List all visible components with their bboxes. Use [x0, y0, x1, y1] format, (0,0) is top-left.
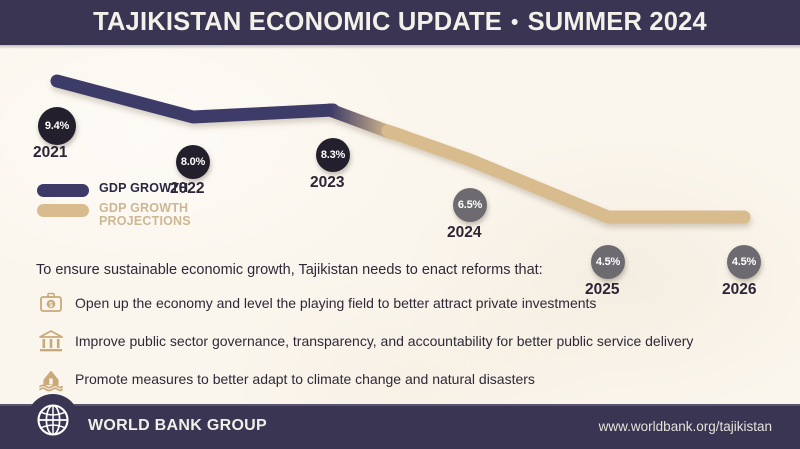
list-item: $ Open up the economy and level the play… — [36, 288, 776, 318]
year-label-2023: 2023 — [310, 174, 344, 192]
legend-swatch-gdp-growth-projections — [37, 204, 89, 217]
briefcase-dollar-icon: $ — [36, 288, 66, 318]
legend-label-line-2: PROJECTIONS — [99, 215, 191, 228]
recommendations-section: To ensure sustainable economic growth, T… — [36, 262, 776, 402]
list-item: Promote measures to better adapt to clim… — [36, 364, 776, 394]
title-left-text: TAJIKISTAN ECONOMIC UPDATE — [93, 8, 502, 36]
house-flood-icon — [36, 364, 66, 394]
list-item: Improve public sector governance, transp… — [36, 326, 776, 356]
bank-building-icon — [36, 326, 66, 356]
list-item-text: Open up the economy and level the playin… — [75, 295, 596, 311]
page-title: TAJIKISTAN ECONOMIC UPDATE•SUMMER 2024 — [93, 8, 707, 37]
year-label-2021: 2021 — [33, 144, 67, 162]
data-point-2022: 8.0% — [176, 145, 210, 179]
data-point-2021: 9.4% — [38, 107, 76, 145]
world-bank-globe-icon — [27, 394, 79, 446]
footer-bar: WORLD BANK GROUP www.worldbank.org/tajik… — [0, 404, 800, 449]
footer-divider — [0, 404, 800, 406]
data-point-2023: 8.3% — [316, 138, 350, 172]
footer-url[interactable]: www.worldbank.org/tajikistan — [599, 419, 772, 434]
svg-text:$: $ — [49, 302, 53, 309]
year-label-2024: 2024 — [447, 224, 481, 242]
title-separator-dot: • — [502, 11, 528, 35]
data-point-2024: 6.5% — [453, 188, 487, 222]
header-shadow — [0, 45, 800, 49]
header-bar: TAJIKISTAN ECONOMIC UPDATE•SUMMER 2024 — [0, 0, 800, 45]
list-item-text: Improve public sector governance, transp… — [75, 333, 693, 349]
legend-item-gdp-growth-projections: GDP GROWTH PROJECTIONS — [37, 202, 191, 228]
legend-swatch-gdp-growth — [37, 184, 89, 197]
legend-item-gdp-growth: GDP GROWTH — [37, 182, 191, 197]
title-right-text: SUMMER 2024 — [528, 8, 707, 36]
brand-name: WORLD BANK GROUP — [88, 417, 267, 435]
chart-legend: GDP GROWTH GDP GROWTH PROJECTIONS — [37, 182, 191, 233]
legend-label-gdp-growth-projections: GDP GROWTH PROJECTIONS — [99, 202, 191, 228]
list-item-text: Promote measures to better adapt to clim… — [75, 371, 535, 387]
legend-label-gdp-growth: GDP GROWTH — [99, 182, 188, 195]
infographic-poster: TAJIKISTAN ECONOMIC UPDATE•SUMMER 2024 — [0, 0, 800, 449]
recommendations-intro: To ensure sustainable economic growth, T… — [36, 262, 776, 278]
